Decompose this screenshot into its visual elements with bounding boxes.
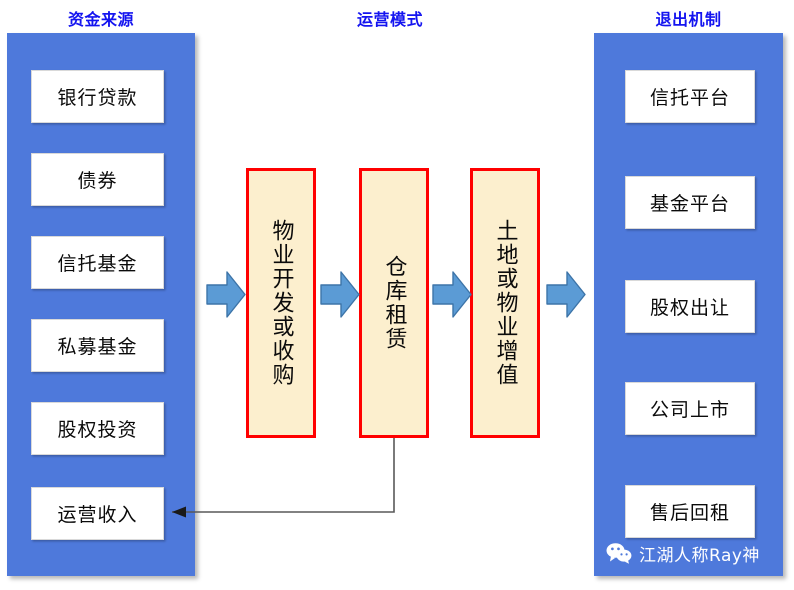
exit-item-sale-leaseback[interactable]: 售后回租 [625, 485, 755, 538]
diagram-canvas: 资金来源 运营模式 退出机制 银行贷款 债券 信托基金 私募基金 股权投资 运营… [0, 0, 794, 590]
funding-item-trust-fund[interactable]: 信托基金 [31, 236, 164, 289]
exit-item-fund-platform[interactable]: 基金平台 [625, 176, 755, 229]
arrow-appreciation-to-exit-icon [546, 271, 586, 318]
arrow-sources-to-development-icon [206, 271, 246, 318]
column-title-funding-sources: 资金来源 [7, 6, 195, 30]
process-box-asset-appreciation-label: 土地或物业增值 [493, 219, 516, 387]
funding-item-bond[interactable]: 债券 [31, 153, 164, 206]
arrow-leasing-to-appreciation-icon [432, 271, 472, 318]
column-title-operating-model: 运营模式 [295, 6, 485, 30]
wechat-icon [606, 543, 632, 564]
process-box-warehouse-leasing[interactable]: 仓库租赁 [359, 168, 429, 438]
funding-item-operating-income[interactable]: 运营收入 [31, 487, 164, 540]
process-box-warehouse-leasing-label: 仓库租赁 [382, 255, 405, 351]
wechat-watermark-text: 江湖人称Ray神 [639, 541, 760, 566]
feedback-connector-leasing-to-operating-income [150, 430, 410, 525]
funding-item-equity-investment[interactable]: 股权投资 [31, 402, 164, 455]
exit-item-trust-platform[interactable]: 信托平台 [625, 70, 755, 123]
exit-item-equity-transfer[interactable]: 股权出让 [625, 280, 755, 333]
funding-item-private-fund[interactable]: 私募基金 [31, 319, 164, 372]
arrow-development-to-leasing-icon [320, 271, 360, 318]
process-box-property-development-label: 物业开发或收购 [269, 219, 292, 387]
funding-item-bank-loan[interactable]: 银行贷款 [31, 70, 164, 123]
wechat-watermark: 江湖人称Ray神 [606, 541, 760, 566]
exit-item-company-listing[interactable]: 公司上市 [625, 382, 755, 435]
column-title-exit-mechanisms: 退出机制 [594, 6, 783, 30]
process-box-asset-appreciation[interactable]: 土地或物业增值 [470, 168, 540, 438]
process-box-property-development[interactable]: 物业开发或收购 [246, 168, 316, 438]
